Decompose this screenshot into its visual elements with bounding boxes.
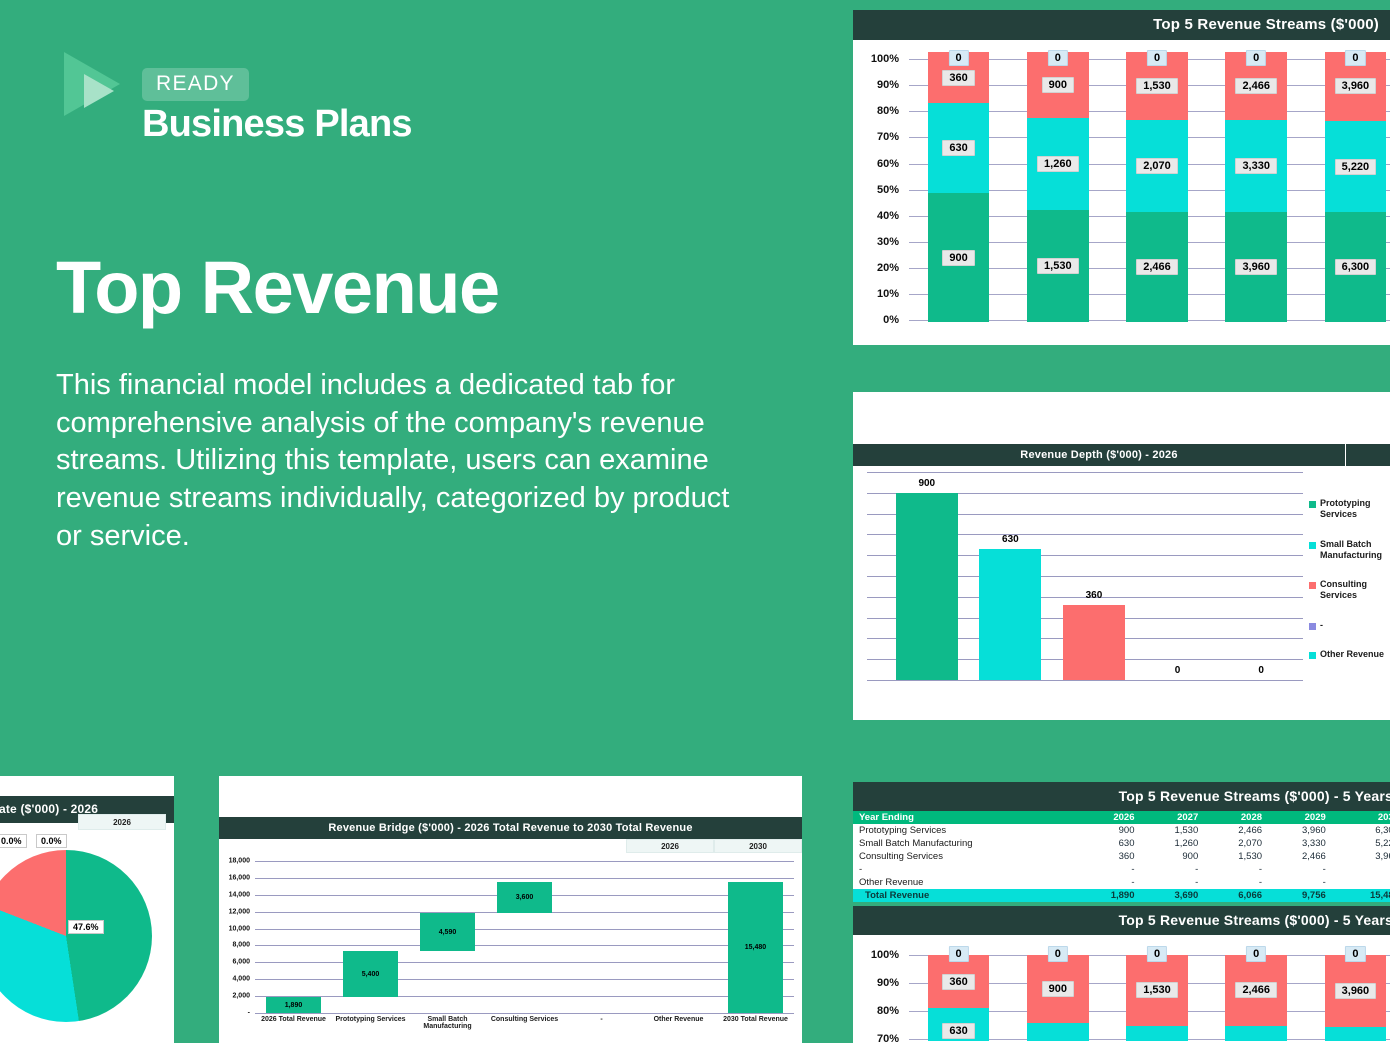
data-label-other: 0 <box>1345 946 1365 962</box>
table-cell: - <box>1204 863 1268 876</box>
stack-segment-prototyping: 2,466 <box>1126 212 1188 322</box>
legend-swatch <box>1309 652 1316 659</box>
data-label-other: 0 <box>1246 50 1266 66</box>
x-tick-label: Other Revenue <box>640 1016 717 1030</box>
row-label: - <box>853 863 1077 876</box>
ready-badge: READY <box>142 68 249 101</box>
data-label: 2,070 <box>1136 158 1178 174</box>
stack-segment-small-batch <box>1027 1023 1089 1041</box>
stacked-bar-column: 1,5300 <box>1107 941 1206 1041</box>
table-cell: 6,300 <box>1332 824 1390 837</box>
stacked-bar-column: 3,9600 <box>1306 941 1390 1041</box>
y-tick-label: 60% <box>877 158 899 170</box>
depth-bar: 630 <box>979 549 1041 680</box>
data-label-other: 0 <box>1147 946 1167 962</box>
legend-item: Other Revenue <box>1309 649 1390 660</box>
stack-segment-prototyping: 900 <box>928 193 990 322</box>
table-cell: - <box>1204 876 1268 889</box>
table-total-row: Total Revenue1,8903,6906,0669,75615,480 <box>853 889 1390 902</box>
legend-label: - <box>1320 620 1323 631</box>
waterfall-bar: 1,890 <box>266 997 321 1013</box>
data-label: 3,960 <box>1335 78 1377 94</box>
legend-item: Small Batch Manufacturing <box>1309 539 1390 562</box>
data-label-other: 0 <box>1246 946 1266 962</box>
data-label: 630 <box>1002 534 1019 545</box>
table-cell: 1,530 <box>1204 850 1268 863</box>
stacked-chart-top: 100%90%80%70%60%50%40%30%20%10%0% 360630… <box>853 40 1390 330</box>
depth-bar-column: 0 <box>1219 472 1303 680</box>
y-tick-label: 100% <box>871 949 899 961</box>
table-cell: 3,960 <box>1268 824 1332 837</box>
waterfall-bar: 15,480 <box>728 882 783 1013</box>
y-tick-label: 6,000 <box>232 959 250 966</box>
y-tick-label: 40% <box>877 210 899 222</box>
legend-cell: 2030 <box>714 839 802 853</box>
table-cell: 900 <box>1140 850 1204 863</box>
stack-segment-small-batch: 630 <box>928 1008 990 1041</box>
data-label: 360 <box>942 974 974 990</box>
total-cell: 15,480 <box>1332 889 1390 902</box>
y-tick-label: 0% <box>883 314 899 326</box>
depth-title-row: Revenue Depth ($'000) - 2026 <box>853 444 1390 466</box>
stack-segment-small_batch: 3,330 <box>1225 120 1287 212</box>
table-cell: - <box>1140 863 1204 876</box>
table-column-header: Year Ending <box>853 811 1077 824</box>
table-column-header: 2028 <box>1204 811 1268 824</box>
data-label: 1,530 <box>1136 982 1178 998</box>
depth-bar-column: 630 <box>969 472 1053 680</box>
stacked-bar-column: 9001,2601,5300 <box>1008 48 1107 323</box>
y-tick-label: 8,000 <box>232 942 250 949</box>
stacked-bar-column: 9000 <box>1008 941 1107 1041</box>
data-label: 3,960 <box>1235 259 1277 275</box>
data-label-other: 0 <box>949 50 969 66</box>
data-label: 900 <box>1042 77 1074 93</box>
brand-name: Business Plans <box>142 105 412 145</box>
row-label: Other Revenue <box>853 876 1077 889</box>
depth-bar: 360 <box>1063 605 1125 680</box>
y-tick-label: 90% <box>877 79 899 91</box>
data-label: 2,466 <box>1136 259 1178 275</box>
waterfall-bar: 4,590 <box>420 913 475 952</box>
revenue-bridge-panel: Revenue Bridge ($'000) - 2026 Total Reve… <box>219 776 802 1043</box>
bar-series: 36063090009001,2601,53001,5302,0702,4660… <box>909 48 1390 323</box>
waterfall-column <box>563 861 640 1013</box>
stack-segment-prototyping: 1,530 <box>1027 210 1089 322</box>
table-header-row: Year Ending20262027202820292030 <box>853 811 1390 824</box>
stack-segment-small_batch: 5,220 <box>1325 121 1387 212</box>
waterfall-bar: 5,400 <box>343 951 398 997</box>
top5-table-panel: Top 5 Revenue Streams ($'000) - 5 Years … <box>853 782 1390 902</box>
total-cell: 1,890 <box>1077 889 1141 902</box>
y-tick-label: 30% <box>877 236 899 248</box>
waterfall-column: 3,600 <box>486 861 563 1013</box>
y-tick-label: 14,000 <box>229 891 250 898</box>
title-stub <box>1345 444 1390 466</box>
data-label: 1,890 <box>285 1002 303 1009</box>
top5-stacked-chart-panel: Top 5 Revenue Streams ($'000) 100%90%80%… <box>853 10 1390 345</box>
revenue-depth-panel: Revenue Depth ($'000) - 2026 90063036000… <box>853 392 1390 720</box>
stacked-bar-column: 2,4660 <box>1207 941 1306 1041</box>
data-label-other: 0 <box>1147 50 1167 66</box>
table-cell: - <box>1077 863 1141 876</box>
table-cell: 3,960 <box>1332 850 1390 863</box>
page-title: Top Revenue <box>56 251 816 325</box>
stack-segment-small_batch: 2,070 <box>1126 120 1188 212</box>
stack-segment-consulting: 1,530 <box>1126 955 1188 1026</box>
legend-swatch <box>1309 582 1316 589</box>
data-label: 15,480 <box>745 944 766 951</box>
table-cell: - <box>1077 876 1141 889</box>
x-tick-label: 2030 Total Revenue <box>717 1016 794 1030</box>
data-label: 0 <box>1258 665 1264 676</box>
data-label: 900 <box>1042 981 1074 997</box>
row-label: Consulting Services <box>853 850 1077 863</box>
stacked-bar-column: 1,5302,0702,4660 <box>1107 48 1206 323</box>
table-cell: - <box>1140 876 1204 889</box>
total-cell: 6,066 <box>1204 889 1268 902</box>
legend-label: Small Batch Manufacturing <box>1320 539 1390 562</box>
row-label: Prototyping Services <box>853 824 1077 837</box>
bridge-plot: 18,00016,00014,00012,00010,0008,0006,000… <box>219 861 802 1013</box>
y-tick-label: 80% <box>877 105 899 117</box>
table-column-header: 2026 <box>1077 811 1141 824</box>
table-cell: - <box>1332 863 1390 876</box>
y-tick-label: 10,000 <box>229 925 250 932</box>
row-label: Small Batch Manufacturing <box>853 837 1077 850</box>
data-label: 360 <box>942 70 974 86</box>
table-cell: 2,070 <box>1204 837 1268 850</box>
table-cell: - <box>1268 876 1332 889</box>
stack-segment-prototyping: 3,960 <box>1225 212 1287 322</box>
data-label: 900 <box>918 478 935 489</box>
legend-label: Consulting Services <box>1320 579 1390 602</box>
data-label: 1,260 <box>1037 156 1079 172</box>
waterfall-column: 1,890 <box>255 861 332 1013</box>
y-tick-label: - <box>248 1010 250 1017</box>
y-tick-label: 2,000 <box>232 993 250 1000</box>
legend-label: Other Revenue <box>1320 649 1384 660</box>
data-label: 630 <box>942 1023 974 1039</box>
legend-item: Consulting Services <box>1309 579 1390 602</box>
table-cell: 630 <box>1077 837 1141 850</box>
legend-cell: 2026 <box>626 839 714 853</box>
x-tick-label: Prototyping Services <box>332 1016 409 1030</box>
data-label-other: 0 <box>1345 50 1365 66</box>
table-cell: 5,220 <box>1332 837 1390 850</box>
run-rate-pie-panel: Run-Rate ($'000) - 2026 2026 47.6% 33.3%… <box>0 776 174 1043</box>
table-row: Small Batch Manufacturing6301,2602,0703,… <box>853 837 1390 850</box>
stacked-bar-column: 3606300 <box>909 941 1008 1041</box>
data-label: 5,400 <box>362 971 380 978</box>
total-cell: 9,756 <box>1268 889 1332 902</box>
table-row: ------ <box>853 863 1390 876</box>
legend-year-cell: 2026 <box>78 814 166 830</box>
y-axis-labels: 18,00016,00014,00012,00010,0008,0006,000… <box>219 861 253 1013</box>
legend-label: Prototyping Services <box>1320 498 1390 521</box>
stacked-bar-column: 2,4663,3303,9600 <box>1207 48 1306 323</box>
waterfall-bar: 3,600 <box>497 882 552 912</box>
legend-swatch <box>1309 623 1316 630</box>
data-label: 2,466 <box>1235 78 1277 94</box>
y-tick-label: 50% <box>877 184 899 196</box>
pie-chart <box>0 850 152 1022</box>
stack-segment-prototyping: 6,300 <box>1325 212 1387 322</box>
y-tick-label: 70% <box>877 1033 899 1043</box>
play-triangle-icon <box>56 48 128 120</box>
table-column-header: 2030 <box>1332 811 1390 824</box>
table-body: Prototyping Services9001,5302,4663,9606,… <box>853 824 1390 902</box>
table-cell: 1,260 <box>1140 837 1204 850</box>
table-row: Consulting Services3609001,5302,4663,960 <box>853 850 1390 863</box>
y-tick-label: 100% <box>871 53 899 65</box>
stack-segment-small_batch: 1,260 <box>1027 118 1089 210</box>
waterfall-column: 5,400 <box>332 861 409 1013</box>
stacked-bar-column: 3606309000 <box>909 48 1008 323</box>
bar-series: 360630090001,53002,46603,9600 <box>909 941 1390 1041</box>
data-label: 2,466 <box>1235 982 1277 998</box>
top5-stacked-bottom-panel: Top 5 Revenue Streams ($'000) - 5 Years … <box>853 906 1390 1043</box>
data-label: 4,590 <box>439 929 457 936</box>
chart-legend: Prototyping ServicesSmall Batch Manufact… <box>1303 472 1390 680</box>
x-tick-label: - <box>563 1016 640 1030</box>
stack-segment-small-batch <box>1325 1027 1387 1041</box>
chart-title: Top 5 Revenue Streams ($'000) - 5 Years <box>853 906 1390 935</box>
table-column-header: 2029 <box>1268 811 1332 824</box>
waterfall-column: 15,480 <box>717 861 794 1013</box>
stack-segment-consulting: 360 <box>928 955 990 1008</box>
chart-title: Top 5 Revenue Streams ($'000) <box>853 10 1390 40</box>
y-tick-label: 18,000 <box>229 858 250 865</box>
waterfall-column: 4,590 <box>409 861 486 1013</box>
data-label: 360 <box>1086 590 1103 601</box>
legend-swatch <box>1309 501 1316 508</box>
table-cell: 1,530 <box>1140 824 1204 837</box>
y-tick-label: 70% <box>877 131 899 143</box>
data-label: 5,220 <box>1335 159 1377 175</box>
pie-label-dash: 0.0% <box>0 834 27 848</box>
stack-segment-consulting: 2,466 <box>1225 955 1287 1026</box>
table-row: Other Revenue----- <box>853 876 1390 889</box>
pie-label-prototyping: 47.6% <box>68 920 104 934</box>
pie-label-other: 0.0% <box>36 834 67 848</box>
data-label: 3,600 <box>516 894 534 901</box>
y-axis-labels: 100%90%80%70%60%50%40%30%20%10%0% <box>861 48 905 323</box>
stacked-chart-bottom: 100%90%80%70% 360630090001,53002,46603,9… <box>853 935 1390 1040</box>
stack-segment-consulting: 3,960 <box>1325 955 1387 1027</box>
y-tick-label: 80% <box>877 1005 899 1017</box>
stack-segment-consulting: 900 <box>1027 955 1089 1023</box>
table-cell: 900 <box>1077 824 1141 837</box>
pie-area: 47.6% 33.3% 19.0% 0.0% 0.0% <box>0 838 174 1038</box>
y-tick-label: 4,000 <box>232 976 250 983</box>
data-label: 1,530 <box>1037 258 1079 274</box>
stack-segment-small_batch: 630 <box>928 103 990 193</box>
brand-logo: READY Business Plans <box>56 48 816 145</box>
x-tick-label: Small Batch Manufacturing <box>409 1016 486 1030</box>
depth-bar-column: 360 <box>1052 472 1136 680</box>
stack-segment-small-batch <box>1225 1026 1287 1041</box>
table-cell: 360 <box>1077 850 1141 863</box>
chart-title: Revenue Depth ($'000) - 2026 <box>853 444 1345 466</box>
total-label: Total Revenue <box>853 889 1077 902</box>
gridline <box>255 1013 794 1014</box>
data-label: 3,960 <box>1335 983 1377 999</box>
table-cell: 2,466 <box>1268 850 1332 863</box>
data-label: 6,300 <box>1335 259 1377 275</box>
data-label: 900 <box>942 250 974 266</box>
stacked-bar-column: 3,9605,2206,3000 <box>1306 48 1390 323</box>
stack-segment-small-batch <box>1126 1026 1188 1041</box>
data-label: 3,330 <box>1235 158 1277 174</box>
chart-title: Revenue Bridge ($'000) - 2026 Total Reve… <box>219 817 802 839</box>
legend-item: Prototyping Services <box>1309 498 1390 521</box>
y-tick-label: 90% <box>877 977 899 989</box>
y-tick-label: 16,000 <box>229 874 250 881</box>
table-row: Prototyping Services9001,5302,4663,9606,… <box>853 824 1390 837</box>
y-axis-labels: 100%90%80%70% <box>861 941 905 1041</box>
table-cell: - <box>1268 863 1332 876</box>
depth-bar: 900 <box>896 493 958 680</box>
data-label: 1,530 <box>1136 78 1178 94</box>
hero-section: READY Business Plans Top Revenue This fi… <box>56 48 816 555</box>
data-label-other: 0 <box>1048 50 1068 66</box>
revenue-table: Year Ending20262027202820292030 Prototyp… <box>853 811 1390 902</box>
hero-description: This financial model includes a dedicate… <box>56 367 756 555</box>
table-cell: 2,466 <box>1204 824 1268 837</box>
x-tick-label: Consulting Services <box>486 1016 563 1030</box>
x-tick-label: 2026 Total Revenue <box>255 1016 332 1030</box>
legend-item: - <box>1309 620 1390 631</box>
bar-series: 1,8905,4004,5903,60015,480 <box>255 861 794 1013</box>
table-cell: - <box>1332 876 1390 889</box>
depth-bar-column: 0 <box>1136 472 1220 680</box>
depth-bar-column: 900 <box>885 472 969 680</box>
x-axis-labels: 2026 Total RevenuePrototyping ServicesSm… <box>255 1016 794 1030</box>
legend-swatch <box>1309 542 1316 549</box>
table-cell: 3,330 <box>1268 837 1332 850</box>
y-tick-label: 12,000 <box>229 908 250 915</box>
total-cell: 3,690 <box>1140 889 1204 902</box>
bridge-legend: 20262030 <box>626 839 802 853</box>
gridline <box>867 680 1303 681</box>
table-title: Top 5 Revenue Streams ($'000) - 5 Years <box>853 782 1390 811</box>
table-column-header: 2027 <box>1140 811 1204 824</box>
waterfall-column <box>640 861 717 1013</box>
depth-chart: 90063036000 <box>867 472 1303 680</box>
data-label-other: 0 <box>1048 946 1068 962</box>
data-label-other: 0 <box>949 946 969 962</box>
data-label: 630 <box>942 140 974 156</box>
data-label: 0 <box>1175 665 1181 676</box>
bar-series: 90063036000 <box>885 472 1303 680</box>
y-tick-label: 20% <box>877 262 899 274</box>
y-tick-label: 10% <box>877 288 899 300</box>
